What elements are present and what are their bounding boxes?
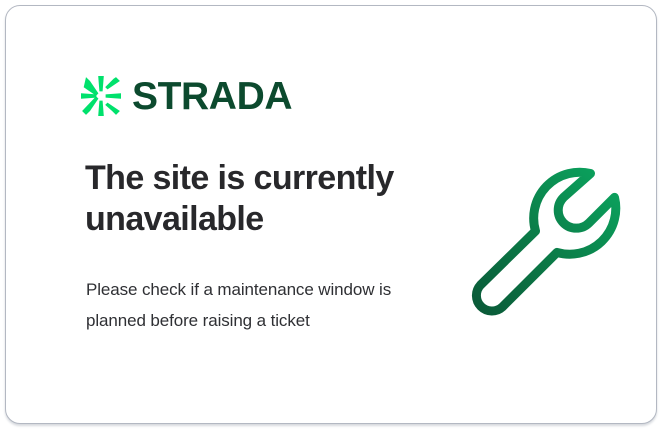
status-card: STRADA The site is currently unavailable… xyxy=(5,5,657,424)
brand-wordmark: STRADA xyxy=(132,77,292,116)
wrench-icon xyxy=(458,156,626,316)
page-description: Please check if a maintenance window is … xyxy=(86,274,396,336)
strada-asterisk-icon xyxy=(81,76,121,116)
page-root: STRADA The site is currently unavailable… xyxy=(0,0,666,436)
brand-logo: STRADA xyxy=(81,72,292,120)
page-title: The site is currently unavailable xyxy=(85,158,415,240)
